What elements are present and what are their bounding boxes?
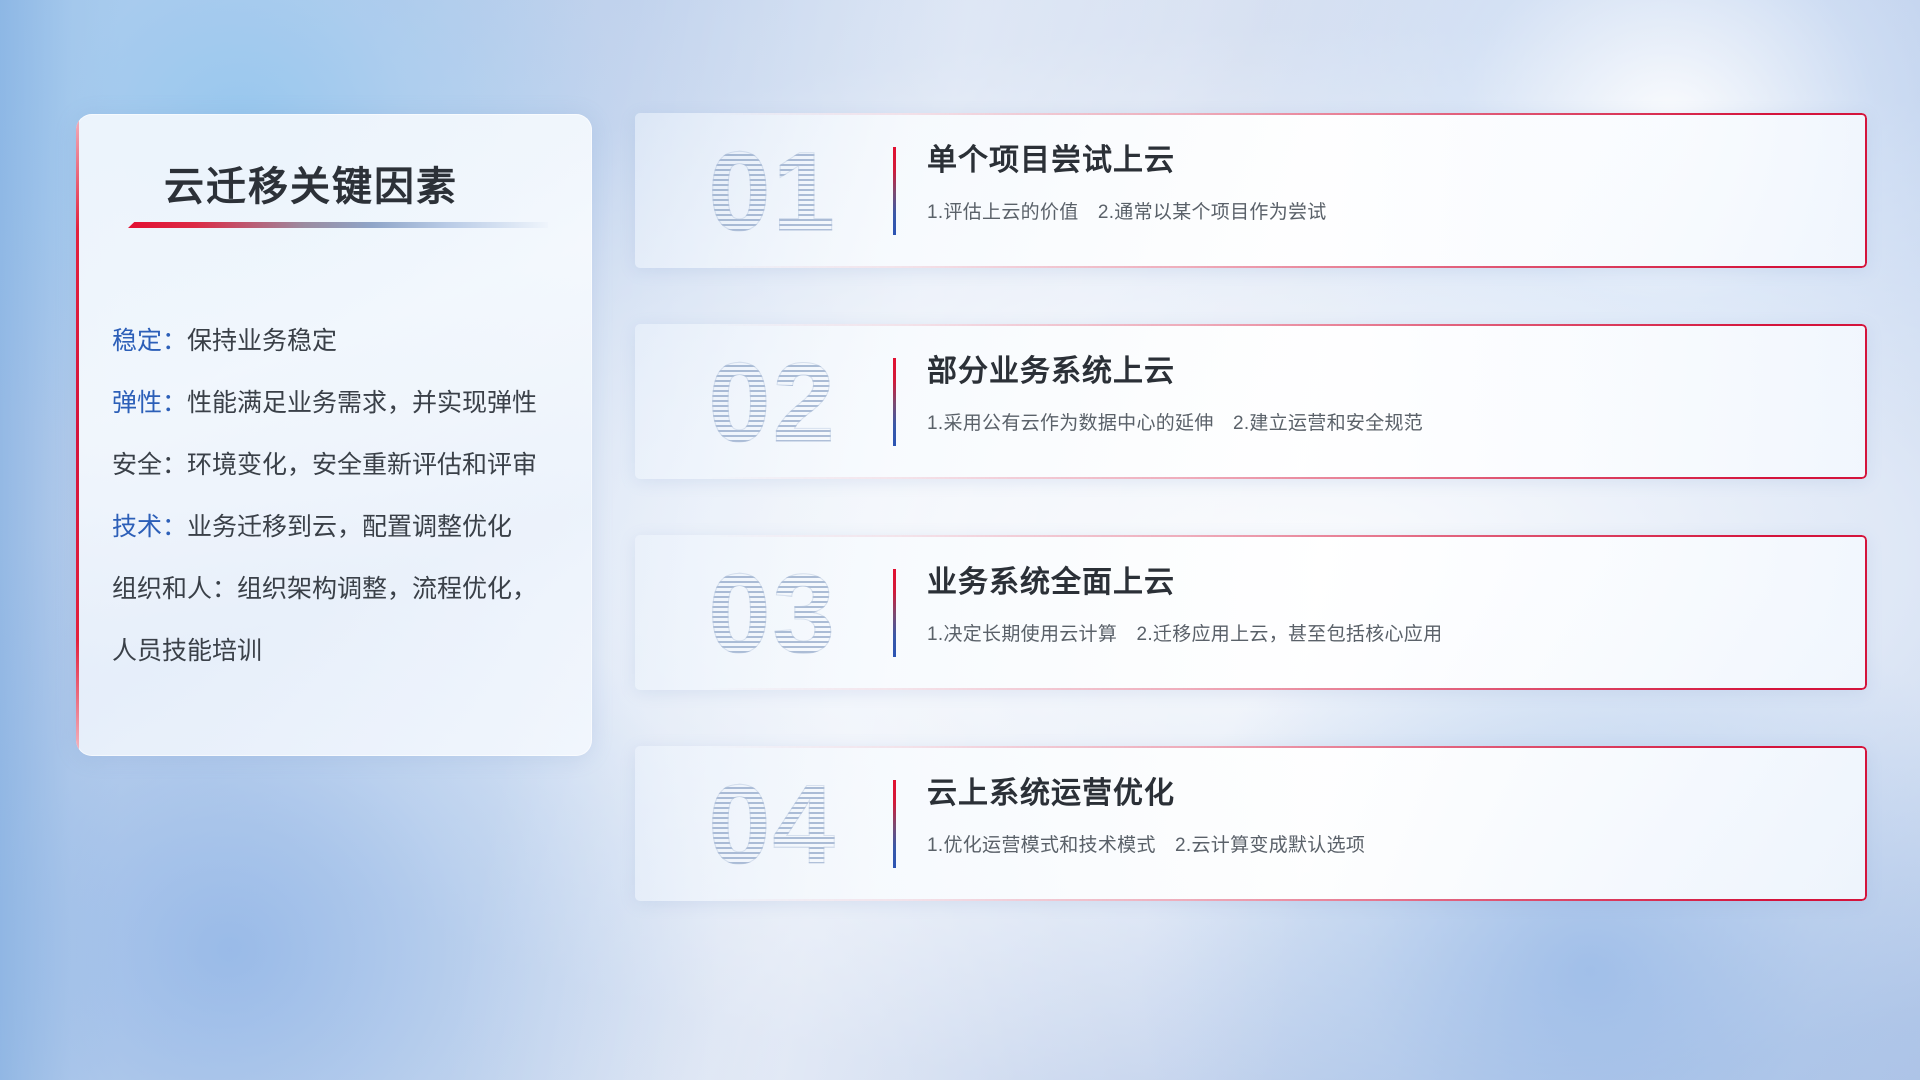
stage-card[interactable]: 02部分业务系统上云1.采用公有云作为数据中心的延伸 2.建立运营和安全规范 [635,324,1867,479]
stage-card[interactable]: 03业务系统全面上云1.决定长期使用云计算 2.迁移应用上云，甚至包括核心应用 [635,535,1867,690]
stage-number: 02 [670,340,875,464]
key-factor-item: 弹性：性能满足业务需求，并实现弹性 [112,372,570,434]
stage-description: 1.决定长期使用云计算 2.迁移应用上云，甚至包括核心应用 [927,619,1833,646]
key-factor-item: 人员技能培训 [112,620,570,682]
key-factor-text: 业务迁移到云，配置调整优化 [187,513,512,541]
stage-description: 1.评估上云的价值 2.通常以某个项目作为尝试 [927,197,1833,224]
stage-divider-accent [893,358,896,446]
stage-divider-accent [893,569,896,657]
stage-body: 云上系统运营优化1.优化运营模式和技术模式 2.云计算变成默认选项 [927,772,1833,857]
stage-number: 01 [670,129,875,253]
key-factor-label: 稳定： [112,327,187,355]
title-underline-accent [128,222,548,228]
key-factor-text: 性能满足业务需求，并实现弹性 [187,389,537,417]
key-factors-panel: 云迁移关键因素 稳定：保持业务稳定弹性：性能满足业务需求，并实现弹性安全：环境变… [76,114,592,756]
stage-title: 云上系统运营优化 [927,772,1833,816]
key-factor-item: 稳定：保持业务稳定 [112,310,570,372]
stage-description: 1.优化运营模式和技术模式 2.云计算变成默认选项 [927,830,1833,857]
stage-title: 业务系统全面上云 [927,561,1833,605]
stage-number: 03 [670,551,875,675]
key-factor-item: 安全：环境变化，安全重新评估和评审 [112,434,570,496]
panel-title: 云迁移关键因素 [164,154,458,212]
key-factor-item: 组织和人：组织架构调整，流程优化， [112,558,570,620]
stage-body: 单个项目尝试上云1.评估上云的价值 2.通常以某个项目作为尝试 [927,139,1833,224]
key-factor-label: 组织和人： [112,575,237,603]
stage-body: 业务系统全面上云1.决定长期使用云计算 2.迁移应用上云，甚至包括核心应用 [927,561,1833,646]
stage-divider-accent [893,147,896,235]
key-factor-label: 弹性： [112,389,187,417]
key-factor-text: 组织架构调整，流程优化， [237,575,537,603]
key-factor-label: 技术： [112,513,187,541]
key-factor-label: 安全： [112,451,187,479]
stage-title: 单个项目尝试上云 [927,139,1833,183]
key-factor-text: 人员技能培训 [112,637,262,665]
stage-number: 04 [670,762,875,886]
stage-card[interactable]: 01单个项目尝试上云1.评估上云的价值 2.通常以某个项目作为尝试 [635,113,1867,268]
stage-divider-accent [893,780,896,868]
stage-card[interactable]: 04云上系统运营优化1.优化运营模式和技术模式 2.云计算变成默认选项 [635,746,1867,901]
key-factor-text: 环境变化，安全重新评估和评审 [187,451,537,479]
key-factor-text: 保持业务稳定 [187,327,337,355]
stage-description: 1.采用公有云作为数据中心的延伸 2.建立运营和安全规范 [927,408,1833,435]
migration-stages-list: 01单个项目尝试上云1.评估上云的价值 2.通常以某个项目作为尝试02部分业务系… [635,113,1867,957]
stage-body: 部分业务系统上云1.采用公有云作为数据中心的延伸 2.建立运营和安全规范 [927,350,1833,435]
key-factor-item: 技术：业务迁移到云，配置调整优化 [112,496,570,558]
key-factors-list: 稳定：保持业务稳定弹性：性能满足业务需求，并实现弹性安全：环境变化，安全重新评估… [112,310,570,682]
stage-title: 部分业务系统上云 [927,350,1833,394]
